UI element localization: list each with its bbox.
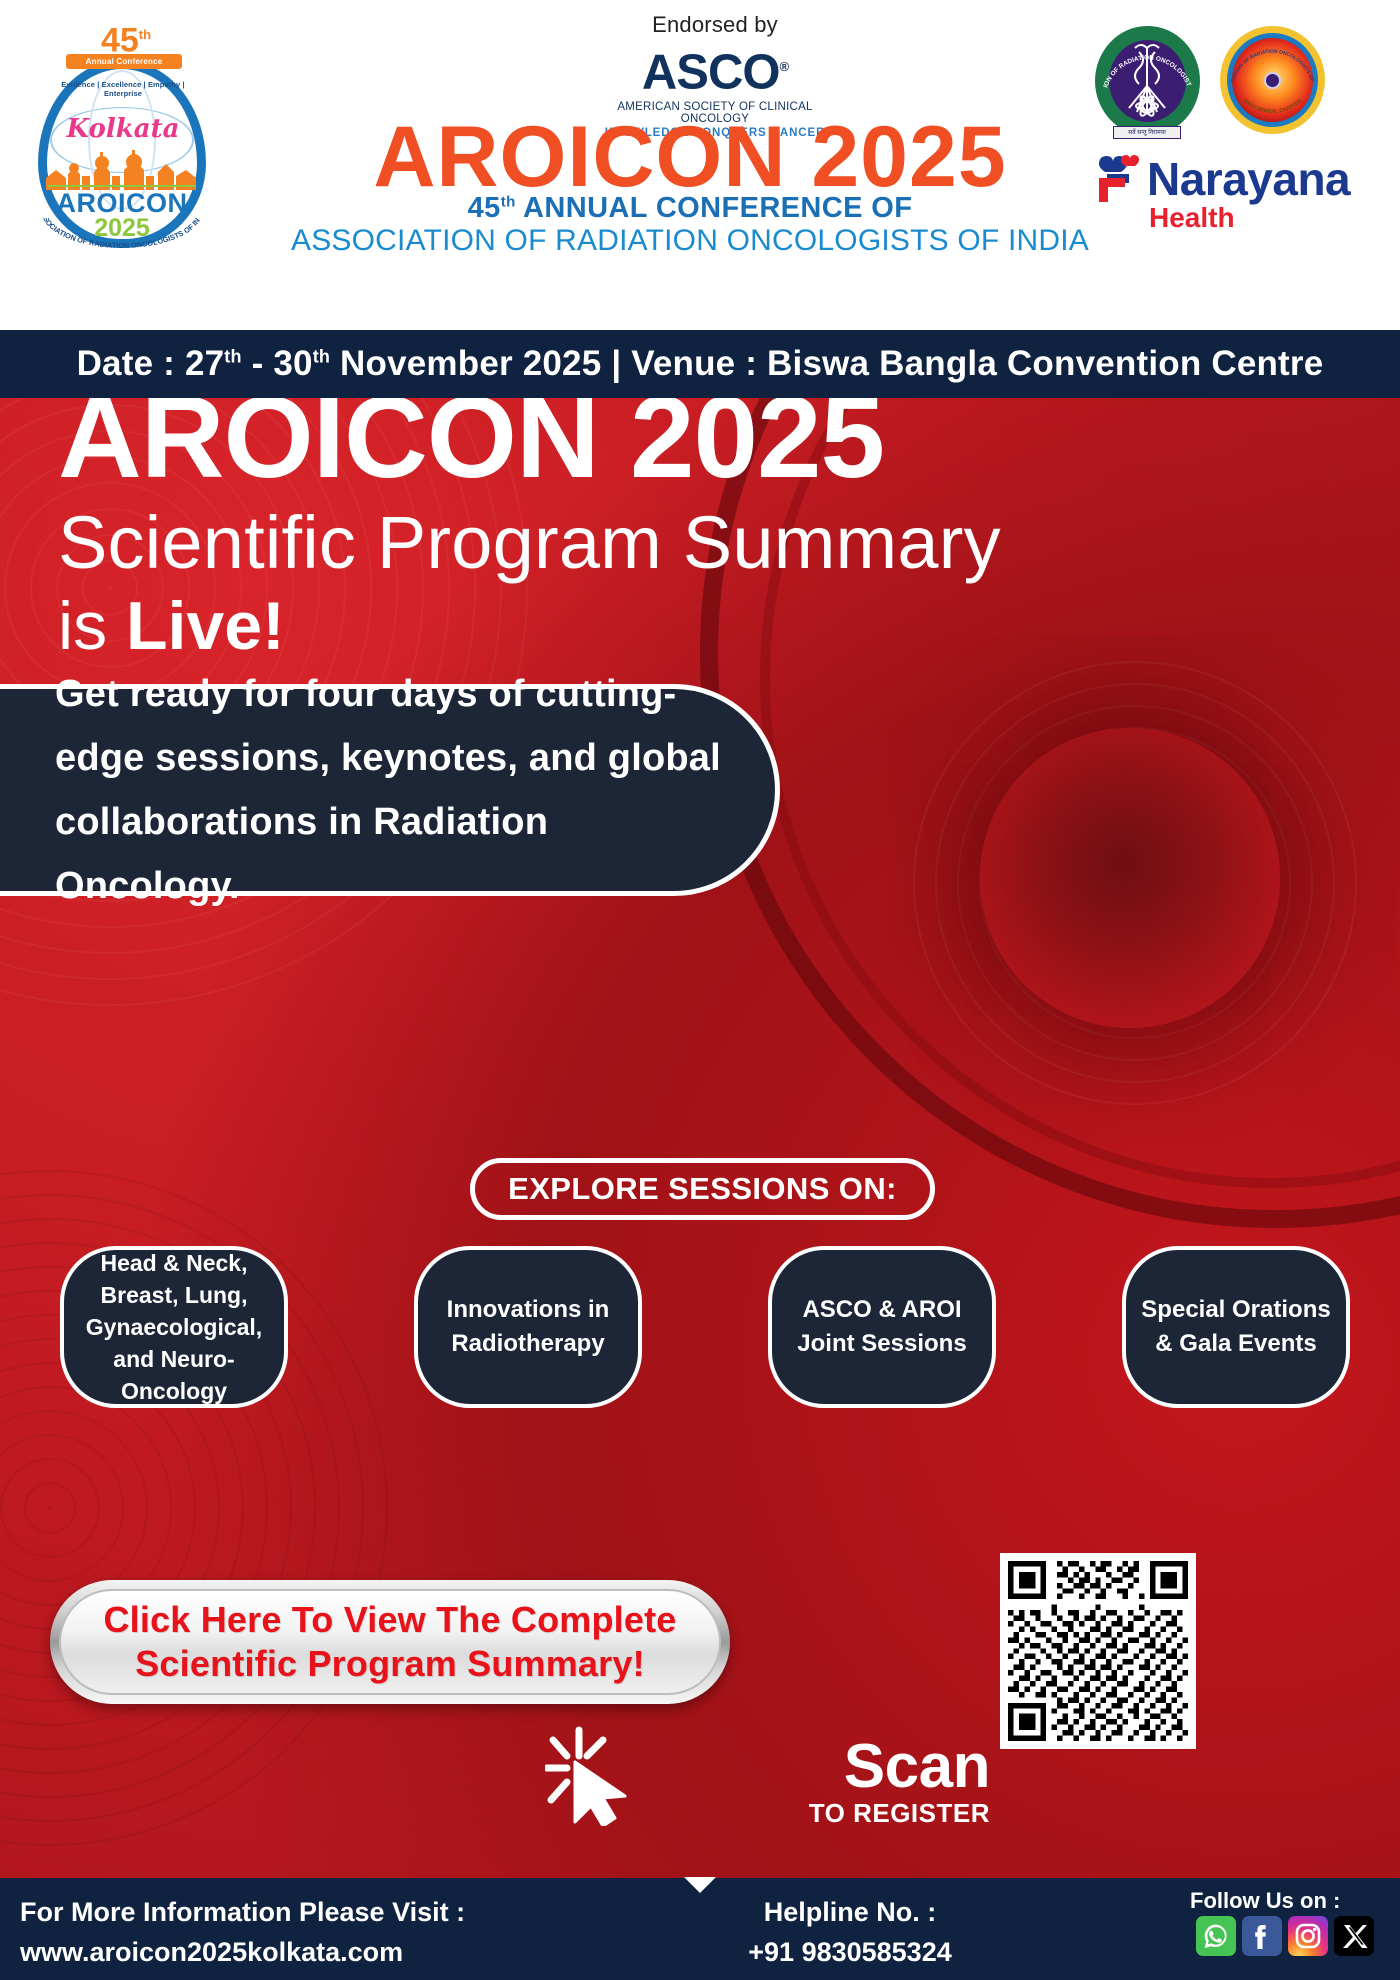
explore-sessions-heading: EXPLORE SESSIONS ON: bbox=[470, 1158, 935, 1220]
svg-text:ASSOCIATION OF RADIATION ONCOL: ASSOCIATION OF RADIATION ONCOLOGISTS OF … bbox=[36, 218, 202, 250]
date-venue-text: Date : 27th - 30th November 2025 | Venue… bbox=[77, 344, 1324, 384]
poster-main-panel: AROICON 2025 Scientific Program Summary … bbox=[0, 398, 1400, 1878]
narayana-health-logo: Narayana Health bbox=[1095, 152, 1335, 244]
aroicon-emblem-logo: 45th Annual Conference Evidence | Excell… bbox=[28, 18, 218, 250]
x-twitter-icon[interactable] bbox=[1334, 1916, 1374, 1956]
poster-footer: For More Information Please Visit : www.… bbox=[0, 1878, 1400, 1980]
session-card-label: ASCO & AROI Joint Sessions bbox=[772, 1293, 992, 1361]
view-program-summary-button[interactable]: Click Here To View The Complete Scientif… bbox=[50, 1580, 730, 1704]
session-cards-row: Head & Neck, Breast, Lung, Gynaecologica… bbox=[60, 1246, 1350, 1408]
narayana-health-word: Health bbox=[1149, 202, 1235, 234]
asco-endorsed-by-label: Endorsed by bbox=[600, 12, 830, 38]
scan-sublabel: TO REGISTER bbox=[760, 1798, 990, 1829]
click-cursor-icon bbox=[545, 1716, 655, 1826]
website-url[interactable]: www.aroicon2025kolkata.com bbox=[20, 1932, 620, 1972]
qr-code[interactable] bbox=[1000, 1553, 1196, 1749]
hero-description-card: Get ready for four days of cutting-edge … bbox=[0, 684, 780, 896]
hero-description-text: Get ready for four days of cutting-edge … bbox=[0, 662, 775, 918]
cta-button-label: Click Here To View The Complete Scientif… bbox=[61, 1598, 719, 1686]
asco-wordmark: ASCO® bbox=[600, 40, 830, 99]
poster-header: 45th Annual Conference Evidence | Excell… bbox=[0, 0, 1400, 330]
session-card-orations-gala[interactable]: Special Orations & Gala Events bbox=[1122, 1246, 1350, 1408]
aroi-sanskrit-motto: सर्वे सन्तु निरामया bbox=[1113, 126, 1181, 139]
helpline-number[interactable]: +91 9830585324 bbox=[640, 1932, 1060, 1972]
visit-label: For More Information Please Visit : bbox=[20, 1892, 620, 1932]
decor-orb bbox=[980, 728, 1280, 1028]
whatsapp-icon[interactable] bbox=[1196, 1916, 1236, 1956]
session-card-innovations[interactable]: Innovations in Radiotherapy bbox=[414, 1246, 642, 1408]
session-card-label: Special Orations & Gala Events bbox=[1126, 1293, 1346, 1361]
explore-sessions-label: EXPLORE SESSIONS ON: bbox=[508, 1171, 897, 1207]
cta-button-inner: Click Here To View The Complete Scientif… bbox=[59, 1589, 721, 1695]
social-links bbox=[1196, 1916, 1374, 1956]
facebook-icon[interactable] bbox=[1242, 1916, 1282, 1956]
svg-text:WEST BENGAL CHAPTER: WEST BENGAL CHAPTER bbox=[1242, 98, 1304, 115]
aroi-association-logo: ASSOCIATION OF RADIATION ONCOLOGISTS OF … bbox=[1095, 26, 1200, 136]
caduceus-icon: ASSOCIATION OF RADIATION ONCOLOGISTS OF … bbox=[1095, 26, 1200, 136]
emblem-annual-conference-label: Annual Conference bbox=[66, 54, 182, 69]
session-card-oncology-sites[interactable]: Head & Neck, Breast, Lung, Gynaecologica… bbox=[60, 1246, 288, 1408]
session-card-label: Innovations in Radiotherapy bbox=[418, 1293, 638, 1361]
emblem-tagline: Evidence | Excellence | Empathy | Enterp… bbox=[54, 80, 192, 98]
narayana-heart-cross-icon bbox=[1095, 154, 1143, 204]
svg-text:ASSOCIATION OF RADIATION ONCOL: ASSOCIATION OF RADIATION ONCOLOGISTS OF … bbox=[1095, 26, 1192, 89]
helpline-label: Helpline No. : bbox=[640, 1892, 1060, 1932]
hero-headline: AROICON 2025 Scientific Program Summary … bbox=[58, 398, 1178, 664]
hero-line-1: AROICON 2025 bbox=[58, 398, 1178, 496]
scan-label: Scan bbox=[760, 1738, 990, 1796]
aroi-west-bengal-chapter-logo: ASSOCIATION OF RADIATION ONCOLOGISTS OF … bbox=[1220, 26, 1325, 134]
helpline-block: Helpline No. : +91 9830585324 bbox=[640, 1892, 1060, 1972]
footer-notch-decor bbox=[684, 1877, 716, 1893]
hero-line-3: is Live! bbox=[58, 588, 1178, 664]
session-card-label: Head & Neck, Breast, Lung, Gynaecologica… bbox=[64, 1247, 284, 1407]
session-card-asco-aroi-joint[interactable]: ASCO & AROI Joint Sessions bbox=[768, 1246, 996, 1408]
instagram-icon[interactable] bbox=[1288, 1916, 1328, 1956]
scan-text-group: Scan TO REGISTER bbox=[760, 1738, 990, 1829]
narayana-name: Narayana bbox=[1147, 156, 1350, 202]
emblem-city-name: Kolkata bbox=[62, 114, 184, 144]
date-venue-bar: Date : 27th - 30th November 2025 | Venue… bbox=[0, 330, 1400, 398]
conference-edition-line: 45th ANNUAL CONFERENCE OF bbox=[220, 192, 1160, 225]
follow-us-label: Follow Us on : bbox=[1190, 1888, 1380, 1914]
kolkata-skyline-icon bbox=[46, 148, 198, 190]
svg-text:ASSOCIATION OF RADIATION ONCOL: ASSOCIATION OF RADIATION ONCOLOGISTS OF … bbox=[1220, 26, 1315, 83]
organisation-name: ASSOCIATION OF RADIATION ONCOLOGISTS OF … bbox=[180, 224, 1200, 258]
more-information-block: For More Information Please Visit : www.… bbox=[20, 1892, 620, 1972]
hero-line-2: Scientific Program Summary bbox=[58, 498, 1178, 588]
